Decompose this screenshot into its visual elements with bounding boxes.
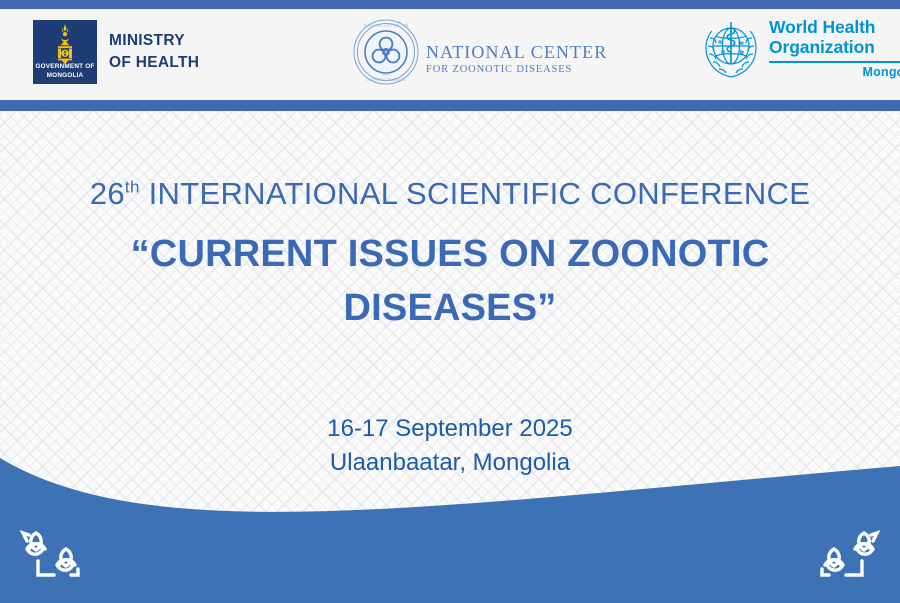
who-divider [769, 61, 900, 63]
who-globe-laurel-emblem [700, 18, 762, 80]
top-accent-bar [0, 0, 900, 9]
who-name-line-2: Organization [769, 37, 900, 57]
mongolian-knot-ornament-left [14, 525, 98, 587]
conference-number: 26 [90, 176, 125, 211]
national-center-name: NATIONAL CENTER FOR ZOONOTIC DISEASES [426, 27, 607, 76]
conference-date: 16-17 September 2025 [0, 412, 900, 446]
ministry-of-health-name: MINISTRY OF HEALTH [109, 30, 199, 74]
conference-theme-line-2: DISEASES” [0, 282, 900, 336]
who-name: World Health Organization Mongolia [769, 17, 900, 79]
biohazard-seal-emblem: NATIONAL CENTER FOR ZOONOTIC DISEASES 19… [352, 18, 420, 86]
national-center-logo: NATIONAL CENTER FOR ZOONOTIC DISEASES 19… [352, 18, 607, 86]
national-center-name-line-1: NATIONAL CENTER [426, 43, 607, 62]
ministry-of-health-logo: GOVERNMENT OF MONGOLIA MINISTRY OF HEALT… [33, 20, 199, 84]
svg-text:1951: 1951 [382, 72, 390, 77]
ministry-name-line-2: OF HEALTH [109, 52, 199, 74]
who-logo: World Health Organization Mongolia [700, 17, 900, 80]
conference-ordinal-suffix: th [125, 178, 140, 197]
conference-location: Ulaanbaatar, Mongolia [0, 446, 900, 480]
header-divider-bar [0, 100, 900, 111]
ministry-name-line-1: MINISTRY [109, 30, 199, 52]
national-center-name-line-2: FOR ZOONOTIC DISEASES [426, 64, 607, 77]
crest-line-1: GOVERNMENT OF [33, 64, 97, 70]
mongolian-knot-ornament-right [802, 525, 886, 587]
svg-text:ZOONOTIC DISEASES: ZOONOTIC DISEASES [366, 78, 405, 82]
conference-theme: “CURRENT ISSUES ON ZOONOTIC DISEASES” [0, 228, 900, 336]
who-country-label: Mongolia [769, 65, 900, 79]
soyombo-emblem [33, 22, 97, 64]
conference-title-slide: GOVERNMENT OF MONGOLIA MINISTRY OF HEALT… [0, 0, 900, 603]
who-name-line-1: World Health [769, 17, 900, 37]
conference-title-text: INTERNATIONAL SCIENTIFIC CONFERENCE [140, 176, 810, 211]
crest-line-2: MONGOLIA [33, 73, 97, 79]
svg-text:NATIONAL CENTER FOR: NATIONAL CENTER FOR [364, 24, 409, 28]
conference-theme-line-1: “CURRENT ISSUES ON ZOONOTIC [0, 228, 900, 282]
conference-details: 16-17 September 2025 Ulaanbaatar, Mongol… [0, 412, 900, 480]
conference-heading: 26th INTERNATIONAL SCIENTIFIC CONFERENCE [0, 176, 900, 212]
government-of-mongolia-crest: GOVERNMENT OF MONGOLIA [33, 20, 97, 84]
